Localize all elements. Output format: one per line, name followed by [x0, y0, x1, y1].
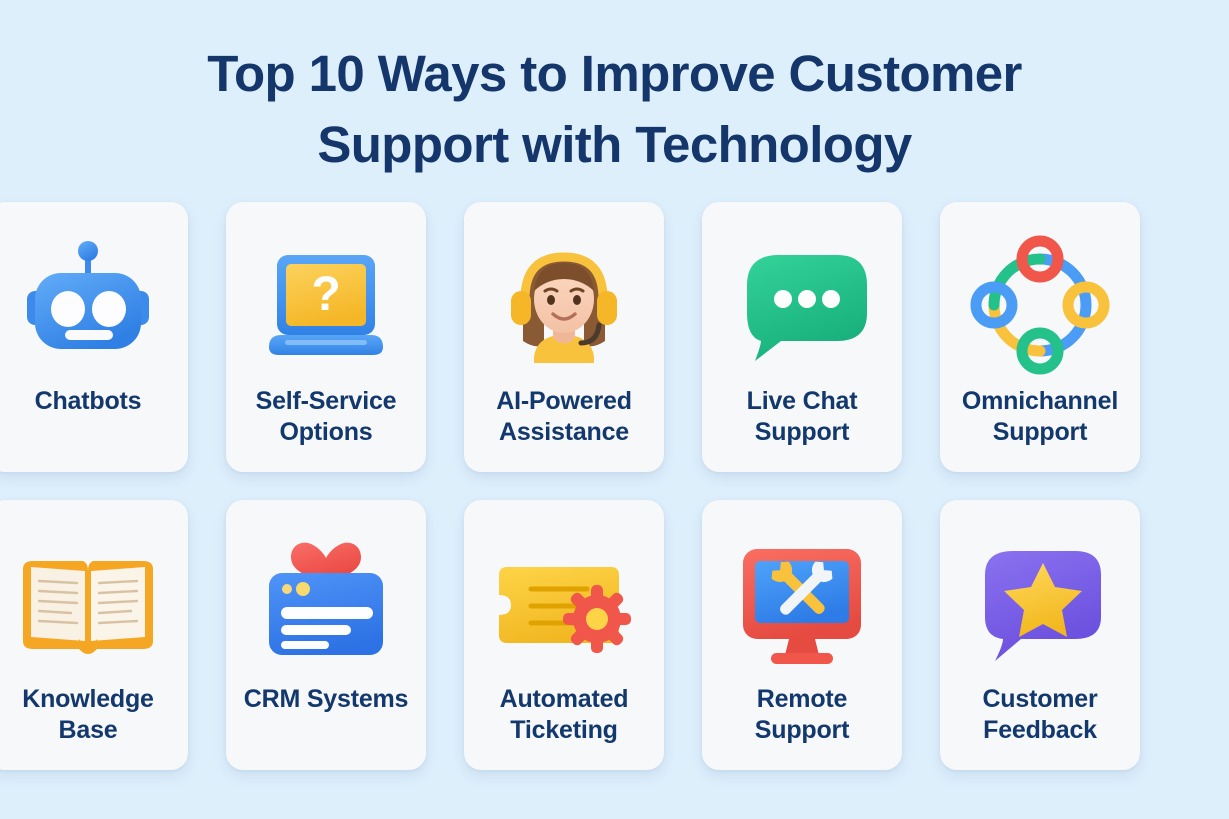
card-label-line-1: Self-Service [256, 387, 397, 415]
card-automated-ticketing[interactable]: Automated Ticketing [464, 500, 664, 770]
card-row-2: Knowledge Base [0, 500, 1229, 770]
card-label-line-2: Assistance [499, 418, 629, 446]
card-label-line-2: Support [993, 418, 1087, 446]
card-chatbots[interactable]: Chatbots [0, 202, 188, 472]
card-label: Remote Support [707, 684, 897, 746]
card-label: Automated Ticketing [469, 684, 659, 746]
card-customer-feedback[interactable]: Customer Feedback [940, 500, 1140, 770]
card-label-line-2: Feedback [983, 716, 1097, 744]
robot-icon [8, 224, 168, 384]
icon-card-grid: Chatbots ? [0, 202, 1229, 770]
card-label-line-1: AI-Powered [496, 387, 632, 415]
laptop-question-icon: ? [246, 224, 406, 384]
card-label: Self-Service Options [231, 386, 421, 448]
monitor-wrench-tools-icon [722, 522, 882, 682]
card-label-line-1: Knowledge [22, 685, 154, 713]
card-label-line-1: Live Chat [747, 387, 858, 415]
card-omnichannel-support[interactable]: Omnichannel Support [940, 202, 1140, 472]
card-label: CRM Systems [231, 684, 421, 715]
card-label-line-1: Remote [757, 685, 848, 713]
card-row-1: Chatbots ? [0, 202, 1229, 472]
card-label-line-2: Base [59, 716, 118, 744]
card-label-line-2: Support [755, 418, 849, 446]
open-book-icon [8, 522, 168, 682]
connected-rings-network-icon [960, 224, 1120, 384]
page-title: Top 10 Ways to Improve Customer Support … [0, 0, 1229, 180]
contact-card-heart-icon [246, 522, 406, 682]
card-label-line-1: Automated [500, 685, 629, 713]
svg-text:?: ? [311, 268, 340, 321]
page-title-line-2: Support with Technology [0, 109, 1229, 180]
card-live-chat-support[interactable]: Live Chat Support [702, 202, 902, 472]
card-label: AI-Powered Assistance [469, 386, 659, 448]
card-label-line-1: Omnichannel [962, 387, 1118, 415]
card-crm-systems[interactable]: CRM Systems [226, 500, 426, 770]
card-ai-powered-assistance[interactable]: AI-Powered Assistance [464, 202, 664, 472]
card-label-line-2: Options [279, 418, 372, 446]
card-remote-support[interactable]: Remote Support [702, 500, 902, 770]
card-label: Knowledge Base [0, 684, 183, 746]
card-label-line-2: Support [755, 716, 849, 744]
speech-bubble-star-icon [960, 522, 1120, 682]
ticket-gear-icon [484, 522, 644, 682]
card-label: Omnichannel Support [945, 386, 1135, 448]
card-self-service-options[interactable]: ? Self-Service Options [226, 202, 426, 472]
support-agent-headset-icon [484, 224, 644, 384]
speech-bubble-dots-icon [722, 224, 882, 384]
card-label-line-2: Ticketing [510, 716, 618, 744]
card-label: Customer Feedback [945, 684, 1135, 746]
card-knowledge-base[interactable]: Knowledge Base [0, 500, 188, 770]
card-label-line-1: Customer [982, 685, 1097, 713]
card-label: Chatbots [0, 386, 183, 417]
page-title-line-1: Top 10 Ways to Improve Customer [0, 38, 1229, 109]
card-label: Live Chat Support [707, 386, 897, 448]
